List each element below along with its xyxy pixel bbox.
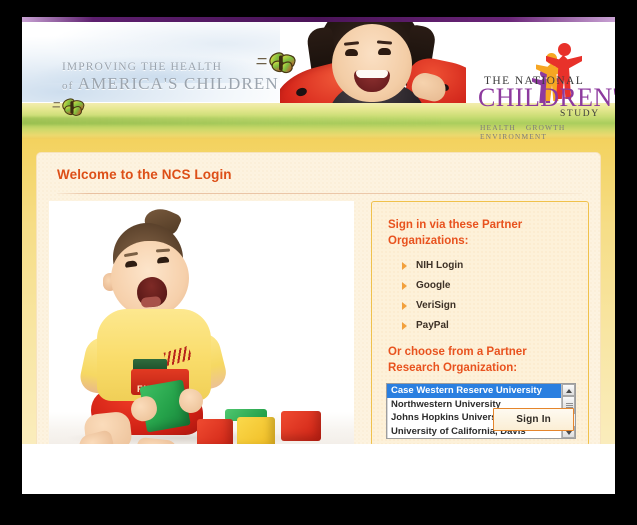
logo-text-study: STUDY	[560, 109, 600, 119]
research-organization-heading: Or choose from a Partner Research Organi…	[388, 345, 576, 377]
arrow-bullet-icon	[402, 322, 407, 330]
logo-figure-head	[558, 43, 571, 56]
page-footer-whitespace	[22, 444, 615, 469]
main-content-panel: Welcome to the NCS Login	[36, 152, 601, 457]
arrow-bullet-icon	[402, 302, 407, 310]
logo-sub-health: HEALTH	[480, 123, 516, 132]
partner-label: VeriSign	[416, 300, 456, 311]
butterfly-body	[70, 101, 73, 114]
sign-in-button[interactable]: Sign In	[493, 408, 574, 431]
scroll-up-arrow-icon[interactable]	[562, 384, 575, 396]
butterfly-body	[279, 56, 283, 71]
tagline-line-2: of AMERICA'S CHILDREN	[62, 74, 279, 94]
partner-label: Google	[416, 280, 450, 291]
tagline-of-word: of	[62, 80, 73, 92]
partner-organizations-list: NIH Login Google VeriSign PayPal	[402, 260, 588, 331]
scroll-down-glyph	[566, 431, 572, 435]
partner-link-google[interactable]: Google	[402, 280, 588, 291]
baby-eye-right	[157, 256, 170, 263]
partner-link-verisign[interactable]: VeriSign	[402, 300, 588, 311]
scrollbar-grip-line	[566, 403, 573, 404]
partner-organizations-heading: Sign in via these Partner Organizations:	[388, 218, 572, 250]
banner-tagline: IMPROVING THE HEALTH of AMERICA'S CHILDR…	[62, 61, 279, 94]
girl-eye-right	[378, 48, 391, 55]
banner-grass-streak	[22, 117, 442, 125]
page-body: IMPROVING THE HEALTH of AMERICA'S CHILDR…	[22, 17, 615, 494]
partner-link-nih-login[interactable]: NIH Login	[402, 260, 588, 271]
tagline-line-1: IMPROVING THE HEALTH	[62, 61, 279, 73]
logo-sub-growth: GROWTH	[526, 123, 566, 132]
logo-subtagline: HEALTH GROWTH ENVIRONMENT	[480, 123, 604, 139]
partner-label: NIH Login	[416, 260, 463, 271]
site-banner: IMPROVING THE HEALTH of AMERICA'S CHILDR…	[22, 17, 615, 139]
butterfly-motion-line	[53, 106, 60, 107]
login-panel: Sign in via these Partner Organizations:…	[371, 201, 589, 446]
partner-link-paypal[interactable]: PayPal	[402, 320, 588, 331]
ncs-logo[interactable]: THE NATIONAL CHILDREN'S STUDY HEALTH GRO…	[474, 57, 604, 119]
scrollbar-grip-line	[566, 405, 573, 406]
baby-photo: FIRE	[49, 201, 354, 457]
arrow-bullet-icon	[402, 282, 407, 290]
girl-eye-left	[345, 49, 358, 56]
gold-frame-band: Welcome to the NCS Login	[22, 139, 615, 469]
partner-label: PayPal	[416, 320, 449, 331]
page-title: Welcome to the NCS Login	[57, 167, 600, 182]
butterfly-motion-line	[258, 58, 267, 59]
butterfly-motion-line	[54, 102, 60, 103]
title-divider	[57, 193, 582, 194]
organization-option-selected[interactable]: Case Western Reserve University	[387, 384, 561, 398]
arrow-bullet-icon	[402, 262, 407, 270]
logo-sub-environment: ENVIRONMENT	[480, 132, 547, 139]
scroll-up-glyph	[566, 389, 572, 393]
block-red-right	[281, 411, 321, 441]
signin-row: Sign In	[493, 408, 574, 431]
screenshot-canvas: IMPROVING THE HEALTH of AMERICA'S CHILDR…	[0, 0, 637, 525]
logo-text-childrens: CHILDREN'S	[478, 85, 615, 111]
girl-teeth	[356, 70, 388, 78]
tagline-line-2-main: AMERICA'S CHILDREN	[78, 74, 279, 93]
